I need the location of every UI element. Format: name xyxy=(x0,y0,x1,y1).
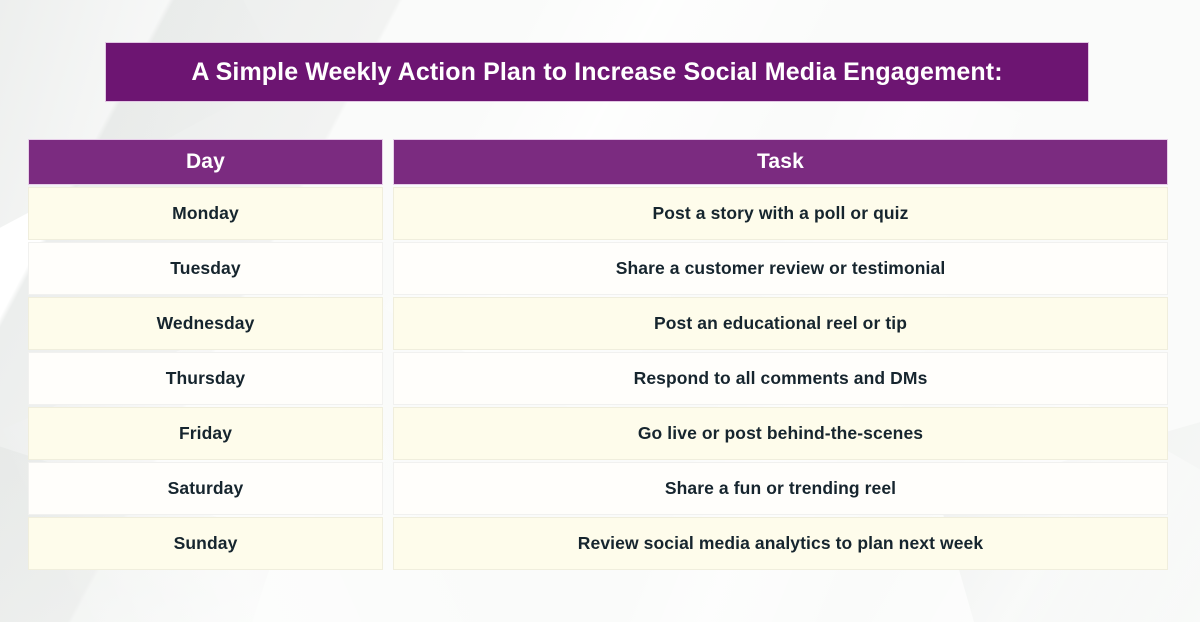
day-value: Sunday xyxy=(174,533,238,554)
weekly-action-plan-table: Day Task Monday Post a story with a poll… xyxy=(28,139,1168,572)
table-cell-day: Wednesday xyxy=(28,297,383,350)
table-header-cell-day: Day xyxy=(28,139,383,185)
task-value: Post an educational reel or tip xyxy=(654,313,907,334)
column-header-task: Task xyxy=(757,150,804,174)
table-cell-day: Thursday xyxy=(28,352,383,405)
infographic-page: A Simple Weekly Action Plan to Increase … xyxy=(0,0,1200,622)
table-cell-task: Post a story with a poll or quiz xyxy=(393,187,1168,240)
table-cell-task: Review social media analytics to plan ne… xyxy=(393,517,1168,570)
table-cell-task: Share a fun or trending reel xyxy=(393,462,1168,515)
page-title: A Simple Weekly Action Plan to Increase … xyxy=(191,58,1002,87)
title-banner: A Simple Weekly Action Plan to Increase … xyxy=(105,42,1089,102)
table-cell-day: Tuesday xyxy=(28,242,383,295)
table-row: Sunday Review social media analytics to … xyxy=(28,517,1168,570)
table-cell-task: Respond to all comments and DMs xyxy=(393,352,1168,405)
table-row: Monday Post a story with a poll or quiz xyxy=(28,187,1168,240)
table-cell-task: Go live or post behind-the-scenes xyxy=(393,407,1168,460)
day-value: Tuesday xyxy=(170,258,240,279)
table-cell-day: Saturday xyxy=(28,462,383,515)
table-row: Saturday Share a fun or trending reel xyxy=(28,462,1168,515)
task-value: Share a fun or trending reel xyxy=(665,478,896,499)
table-cell-task: Post an educational reel or tip xyxy=(393,297,1168,350)
task-value: Share a customer review or testimonial xyxy=(616,258,946,279)
day-value: Wednesday xyxy=(157,313,255,334)
table-row: Tuesday Share a customer review or testi… xyxy=(28,242,1168,295)
task-value: Go live or post behind-the-scenes xyxy=(638,423,923,444)
table-cell-task: Share a customer review or testimonial xyxy=(393,242,1168,295)
table-cell-day: Sunday xyxy=(28,517,383,570)
task-value: Post a story with a poll or quiz xyxy=(652,203,908,224)
day-value: Saturday xyxy=(168,478,244,499)
table-cell-day: Friday xyxy=(28,407,383,460)
column-header-day: Day xyxy=(186,150,225,174)
task-value: Respond to all comments and DMs xyxy=(634,368,928,389)
task-value: Review social media analytics to plan ne… xyxy=(578,533,983,554)
table-cell-day: Monday xyxy=(28,187,383,240)
table-row: Friday Go live or post behind-the-scenes xyxy=(28,407,1168,460)
day-value: Monday xyxy=(172,203,239,224)
table-header-row: Day Task xyxy=(28,139,1168,185)
table-row: Wednesday Post an educational reel or ti… xyxy=(28,297,1168,350)
day-value: Friday xyxy=(179,423,232,444)
table-header-cell-task: Task xyxy=(393,139,1168,185)
table-row: Thursday Respond to all comments and DMs xyxy=(28,352,1168,405)
day-value: Thursday xyxy=(166,368,246,389)
